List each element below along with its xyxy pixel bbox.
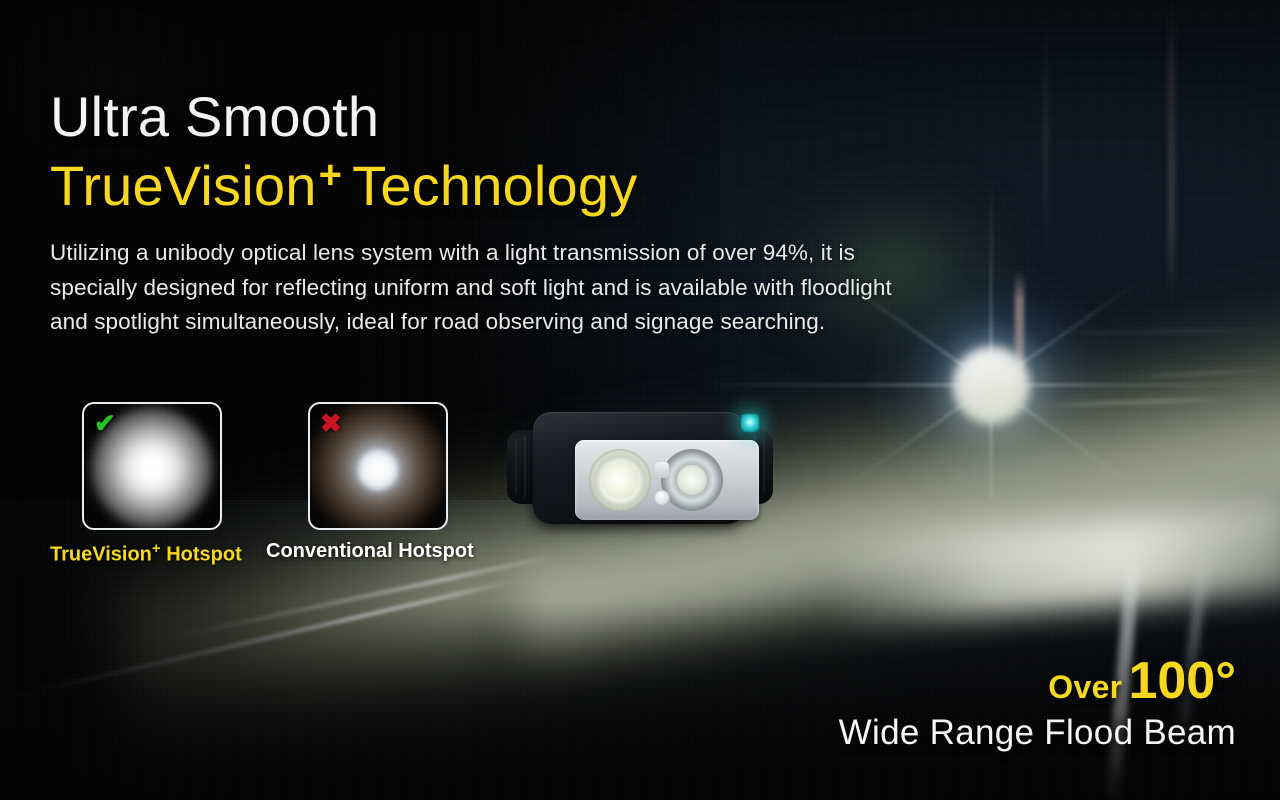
conventional-hotspot-swatch: ✖ xyxy=(308,402,448,530)
status-led-icon xyxy=(741,414,759,432)
headlamp-housing xyxy=(533,412,745,524)
callout-angle-line: Over100° xyxy=(839,655,1236,707)
hotspot-caption-row: TrueVision+ Hotspot Conventional Hotspot xyxy=(50,540,510,570)
promo-banner: Ultra Smooth TrueVision+Technology Utili… xyxy=(0,0,1280,800)
callout-subtitle: Wide Range Flood Beam xyxy=(839,713,1236,752)
callout-over-label: Over xyxy=(1048,669,1122,705)
superscript-plus: + xyxy=(319,155,343,195)
headlamp-product-image xyxy=(505,400,775,540)
page-title: Ultra Smooth xyxy=(50,88,950,145)
page-subtitle: TrueVision+Technology xyxy=(50,157,950,214)
spot-lens-icon xyxy=(661,449,723,511)
label-suffix: Hotspot xyxy=(161,544,242,566)
description-paragraph: Utilizing a unibody optical lens system … xyxy=(50,236,910,339)
headlamp-lens-panel xyxy=(575,440,759,520)
flood-beam-callout: Over100° Wide Range Flood Beam xyxy=(839,655,1236,752)
conventional-hotspot-label: Conventional Hotspot xyxy=(266,540,474,563)
cross-icon: ✖ xyxy=(320,410,342,436)
mode-button[interactable] xyxy=(654,490,670,506)
flood-lens-icon xyxy=(589,449,651,511)
hotspot-comparison: ✔ ✖ TrueVision+ Hotspot Conventional Hot… xyxy=(50,400,510,570)
label-brand: TrueVision xyxy=(50,544,152,566)
superscript-plus: + xyxy=(152,540,161,557)
subtitle-suffix: Technology xyxy=(352,157,637,214)
conventional-beam-core xyxy=(358,450,398,490)
headline-block: Ultra Smooth TrueVision+Technology Utili… xyxy=(50,88,950,339)
truevision-hotspot-swatch: ✔ xyxy=(82,402,222,530)
sensor-icon xyxy=(655,462,669,478)
hotspot-swatch-row: ✔ ✖ xyxy=(50,400,510,532)
truevision-hotspot-label: TrueVision+ Hotspot xyxy=(50,540,242,567)
callout-degrees-value: 100° xyxy=(1128,652,1236,710)
check-icon: ✔ xyxy=(94,410,116,436)
subtitle-brand: TrueVision xyxy=(50,157,317,214)
